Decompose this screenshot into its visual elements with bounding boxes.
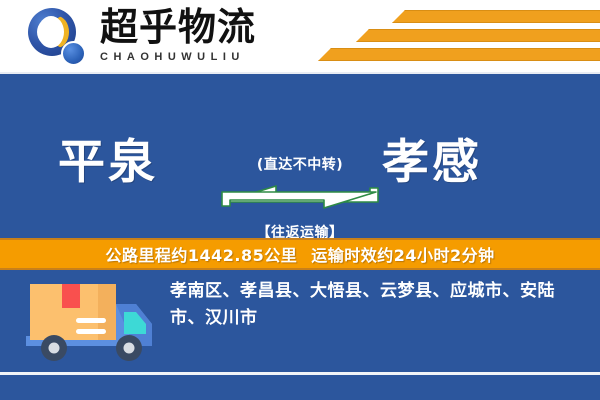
info-bar: 公路里程约1442.85公里运输时效约24小时2分钟 [0, 238, 600, 270]
stripe-3 [318, 48, 600, 61]
logistics-route-banner: 超乎物流 CHAOHUWULIU 平泉 (直达不中转) 【往返运输】 [0, 0, 600, 400]
duration-text: 运输时效约24小时2分钟 [311, 246, 494, 265]
bidirectional-arrow-icon [218, 180, 382, 214]
decorative-stripes [310, 10, 600, 68]
coverage-row: 孝南区、孝昌县、大悟县、云梦县、应城市、安陆市、汉川市 [0, 270, 600, 372]
circle-q-logo-icon [28, 8, 90, 66]
info-bar-content: 公路里程约1442.85公里运输时效约24小时2分钟 [105, 242, 494, 266]
route-row: 平泉 (直达不中转) 【往返运输】 孝感 [0, 110, 600, 238]
footer-strip [0, 375, 600, 400]
banner-header: 超乎物流 CHAOHUWULIU [0, 0, 600, 72]
destination-city: 孝感 [382, 132, 482, 194]
delivery-truck-icon [24, 278, 156, 364]
main-panel: 平泉 (直达不中转) 【往返运输】 孝感 公路里程约1442.85公里运输时效约… [0, 72, 600, 400]
route-middle: (直达不中转) 【往返运输】 [218, 110, 382, 238]
brand-name-en: CHAOHUWULIU [100, 50, 300, 64]
coverage-area-list: 孝南区、孝昌县、大悟县、云梦县、应城市、安陆市、汉川市 [170, 278, 580, 332]
brand-name-cn: 超乎物流 [100, 6, 300, 48]
stripe-1 [392, 10, 600, 23]
distance-text: 公路里程约1442.85公里 [105, 246, 297, 265]
route-note-direct: (直达不中转) [218, 154, 382, 174]
logo-dot-shape [61, 41, 86, 66]
stripe-2 [356, 29, 600, 42]
logo-crescent-cut-shape [38, 16, 64, 48]
brand-block: 超乎物流 CHAOHUWULIU [100, 6, 300, 64]
origin-city: 平泉 [58, 132, 158, 194]
